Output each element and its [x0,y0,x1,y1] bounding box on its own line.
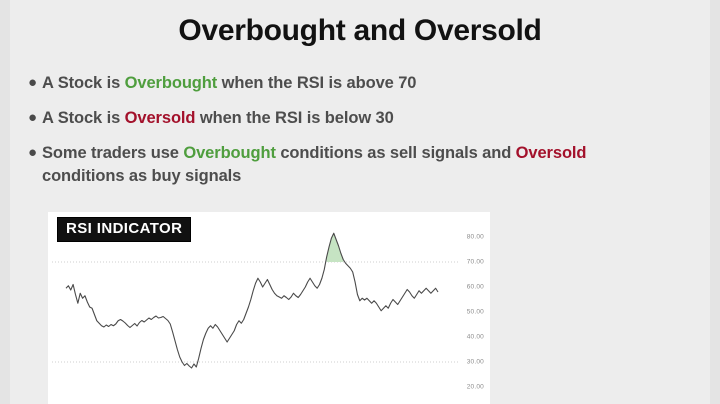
bullet-segment: A Stock is [42,109,125,127]
y-axis-tick-40: 40.00 [467,334,484,341]
page-title: Overbought and Oversold [0,12,720,50]
bullet-segment: Some traders use [42,144,183,162]
bullet-segment: A Stock is [42,74,125,92]
bullet-text-3: Some traders use Overbought conditions a… [42,142,628,188]
bullet-segment: conditions as sell signals and [276,144,516,162]
bullet-marker: ● [28,142,42,164]
bullet-marker: ● [28,72,42,94]
rsi-line [66,233,438,368]
bullet-text-2: A Stock is Oversold when the RSI is belo… [42,107,394,130]
right-edge-band [710,0,720,404]
keyword-overbought: Overbought [125,74,218,92]
y-axis-tick-50: 50.00 [467,309,484,316]
bullet-segment: when the RSI is below 30 [195,109,393,127]
bullet-segment: when the RSI is above 70 [217,74,416,92]
bullet-segment: conditions as buy signals [42,167,241,185]
list-item: ● A Stock is Oversold when the RSI is be… [28,107,628,130]
rsi-chart-panel: RSI INDICATOR 80.0070.0060.0050.0040.003… [48,212,490,404]
y-axis-tick-20: 20.00 [467,384,484,391]
y-axis-tick-70: 70.00 [467,259,484,266]
left-edge-band [0,0,10,404]
bullet-text-1: A Stock is Overbought when the RSI is ab… [42,72,416,95]
bullet-list: ● A Stock is Overbought when the RSI is … [28,72,628,200]
list-item: ● A Stock is Overbought when the RSI is … [28,72,628,95]
slide-root: Overbought and Oversold ● A Stock is Ove… [0,0,720,404]
keyword-overbought: Overbought [183,144,276,162]
keyword-oversold: Oversold [516,144,587,162]
bullet-marker: ● [28,107,42,129]
y-axis-tick-60: 60.00 [467,284,484,291]
keyword-oversold: Oversold [125,109,196,127]
y-axis-tick-80: 80.00 [467,234,484,241]
list-item: ● Some traders use Overbought conditions… [28,142,628,188]
chart-title-badge: RSI INDICATOR [57,217,191,242]
y-axis-tick-30: 30.00 [467,359,484,366]
